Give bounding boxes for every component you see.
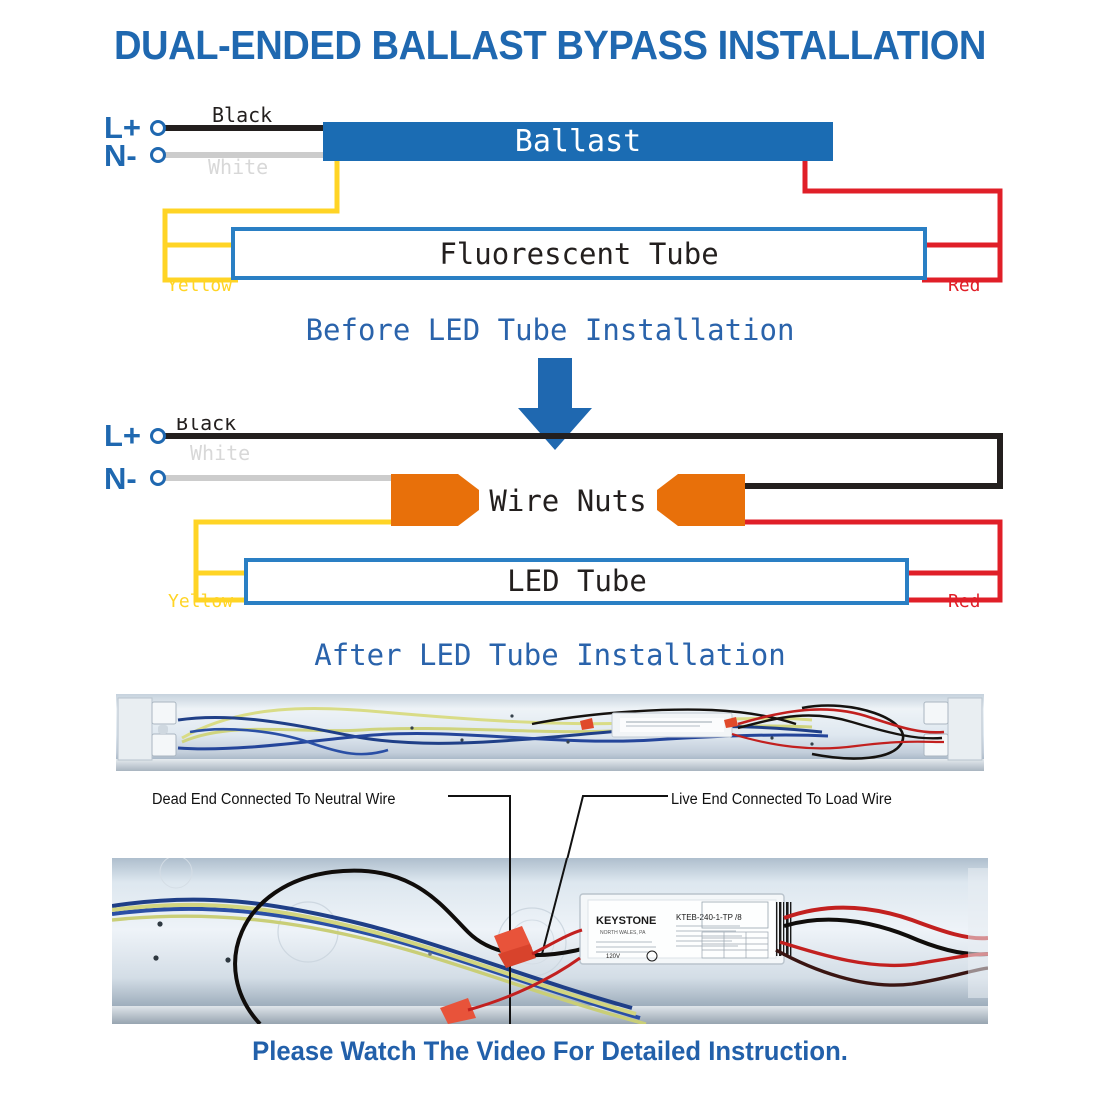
diagram-before: Ballast Fluorescent Tube L+ N- Black Whi…	[0, 95, 1100, 310]
wire-label-yellow-after: Yellow	[168, 591, 233, 612]
svg-text:120V: 120V	[606, 954, 620, 960]
ballast-label: Ballast	[515, 124, 641, 159]
terminal-l-plus-after	[152, 430, 165, 443]
terminal-label-n-minus-before: N-	[104, 138, 137, 173]
photo-bottom-svg: KEYSTONE NORTH WALES, PA KTEB-240-1-TP /…	[112, 858, 988, 1024]
annotation-leader-lines	[0, 780, 1100, 860]
wire-label-yellow-before: Yellow	[167, 275, 232, 296]
terminal-n-minus-after	[152, 472, 165, 485]
terminal-l-plus-before	[152, 122, 165, 135]
ballast-brand-text: KEYSTONE	[596, 915, 656, 927]
wire-label-black-after: Black	[176, 418, 236, 435]
page-title: DUAL-ENDED BALLAST BYPASS INSTALLATION	[39, 22, 1062, 69]
terminal-label-n-minus-after: N-	[104, 461, 137, 496]
terminal-n-minus-before	[152, 149, 165, 162]
diagram-after: Wire Nuts LED Tube L+ N- Black White Yel…	[0, 418, 1100, 623]
ballast-model-text: KTEB-240-1-TP /8	[676, 913, 742, 922]
wire-label-white-after: White	[190, 441, 250, 465]
photo-top-svg	[112, 690, 988, 776]
ballast-location-text: NORTH WALES, PA	[600, 930, 646, 936]
terminal-label-l-plus-after: L+	[104, 418, 141, 453]
wire-nut-left-icon	[391, 474, 479, 526]
page-root: DUAL-ENDED BALLAST BYPASS INSTALLATION B…	[0, 0, 1100, 1100]
wire-label-white-before: White	[208, 155, 268, 179]
wire-nuts-label: Wire Nuts	[489, 484, 646, 518]
photo-fixture-overview	[112, 690, 988, 776]
wire-label-red-before: Red	[948, 275, 981, 296]
wire-label-red-after: Red	[948, 591, 981, 612]
photo-fixture-closeup: KEYSTONE NORTH WALES, PA KTEB-240-1-TP /…	[112, 858, 988, 1024]
caption-after: After LED Tube Installation	[0, 638, 1100, 672]
wire-label-black-before: Black	[212, 103, 272, 127]
bottom-caption: Please Watch The Video For Detailed Inst…	[28, 1036, 1073, 1067]
leader-line-dead-end	[448, 796, 510, 860]
leader-line-live-end	[567, 796, 668, 860]
wire-nut-right-icon	[657, 474, 745, 526]
caption-before: Before LED Tube Installation	[0, 313, 1100, 347]
led-tube-label: LED Tube	[507, 564, 647, 598]
fluorescent-tube-label: Fluorescent Tube	[439, 237, 718, 271]
